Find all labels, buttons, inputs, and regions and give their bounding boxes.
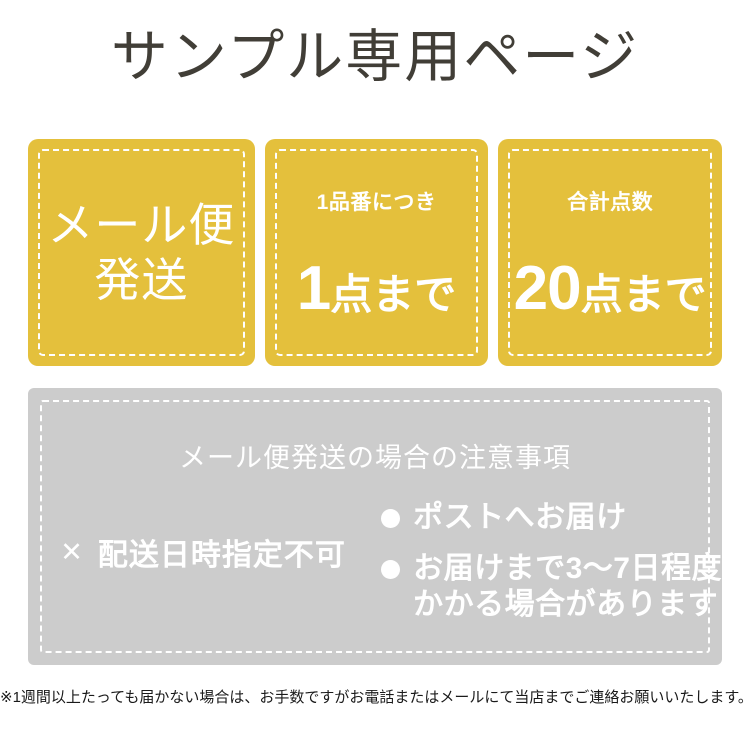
card-per-item-limit-body: 1品番につき 1 点まで xyxy=(265,186,489,319)
card-total-limit-number: 20 xyxy=(514,260,581,319)
page-title: サンプル専用ページ xyxy=(0,26,750,89)
notice-bullet-2-text: お届けまで3〜7日程度 かかる場合があります xyxy=(413,551,722,624)
notice-left-column: ✕ 配送日時指定不可 xyxy=(28,500,378,574)
notice-bullet-2-line2: かかる場合があります xyxy=(413,587,722,624)
card-total-limit: 合計点数 20 点まで xyxy=(498,139,722,366)
card-per-item-limit-caption: 1品番につき xyxy=(265,186,489,216)
card-per-item-limit-number: 1 xyxy=(297,260,330,319)
list-item: お届けまで3〜7日程度 かかる場合があります xyxy=(381,551,722,624)
list-item: ポストへお届け xyxy=(381,500,722,537)
notice-bullet-2-line1: お届けまで3〜7日程度 xyxy=(413,551,722,588)
notice-title: メール便発送の場合の注意事項 xyxy=(28,436,722,475)
cross-mark-icon: ✕ xyxy=(60,539,84,566)
info-card-row: メール便 発送 1品番につき 1 点まで 合計点数 20 点まで xyxy=(28,139,722,366)
notice-bullet-1-text: ポストへお届け xyxy=(413,500,627,537)
card-per-item-limit-unit: 点まで xyxy=(330,275,456,315)
notice-content: ✕ 配送日時指定不可 ポストへお届け お届けまで3〜7日程度 かかる場合がありま… xyxy=(28,500,722,645)
footer-note: ※1週間以上たっても届かない場合は、お手数ですがお電話またはメールにて当店までご… xyxy=(0,686,750,707)
notice-panel: メール便発送の場合の注意事項 ✕ 配送日時指定不可 ポストへお届け xyxy=(28,388,722,665)
card-mail-shipping-body: メール便 発送 xyxy=(28,198,255,307)
card-mail-shipping-line2: 発送 xyxy=(28,253,255,307)
card-total-limit-caption: 合計点数 xyxy=(498,186,722,216)
notice-bullet-1-line1: ポストへお届け xyxy=(413,500,627,537)
card-mail-shipping: メール便 発送 xyxy=(28,139,255,366)
notice-no-date-designation-label: 配送日時指定不可 xyxy=(98,530,346,574)
bullet-dot-icon xyxy=(381,509,400,528)
bullet-dot-icon xyxy=(381,560,400,579)
card-total-limit-unit: 点まで xyxy=(581,275,707,315)
sample-page: サンプル専用ページ メール便 発送 1品番につき 1 点まで xyxy=(0,0,750,750)
card-total-limit-body: 合計点数 20 点まで xyxy=(498,186,722,319)
notice-no-date-designation: ✕ 配送日時指定不可 xyxy=(60,530,346,574)
card-total-limit-figure: 20 点まで xyxy=(498,260,722,319)
card-per-item-limit: 1品番につき 1 点まで xyxy=(265,139,489,366)
card-per-item-limit-figure: 1 点まで xyxy=(265,260,489,319)
notice-right-column: ポストへお届け お届けまで3〜7日程度 かかる場合があります xyxy=(378,500,722,638)
card-mail-shipping-line1: メール便 xyxy=(28,198,255,252)
